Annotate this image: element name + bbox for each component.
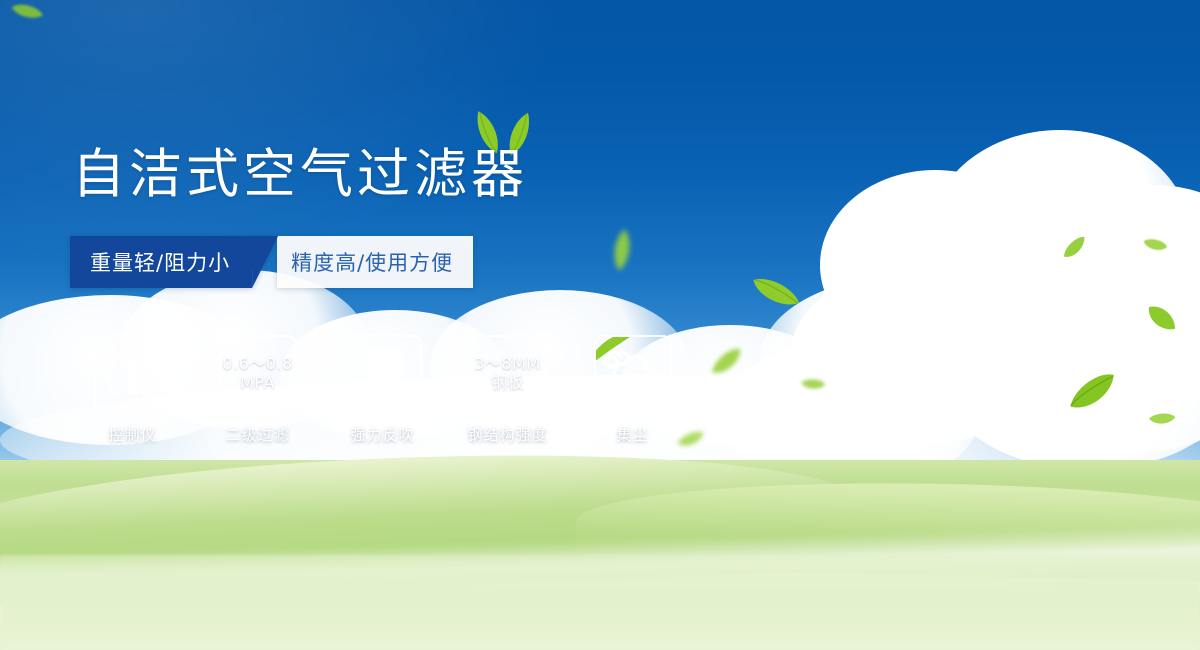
steel-plate-text-icon: 3～8MM 钢板: [469, 335, 547, 413]
feature-item-steel[interactable]: 3～8MM 钢板 钢结构强度: [445, 335, 570, 445]
air-caption: Air: [596, 390, 670, 404]
air-cloud-icon: Air: [594, 335, 672, 413]
feature-label: 二级过滤: [225, 424, 289, 445]
subtitle-left: 重量轻/阻力小: [70, 236, 252, 288]
pressure-line2: MPA: [222, 374, 292, 393]
decor-leaf-icon: [594, 335, 636, 363]
page-title: 自洁式空气过滤器: [72, 148, 528, 201]
svg-text:NO: NO: [100, 371, 112, 380]
banner-content: 自洁式空气过滤器 重量轻/阻力小 精度高/使用方便: [0, 0, 1200, 650]
feature-label: 钢结构强度: [467, 424, 547, 445]
pressure-text-icon: 0.6～0.8 MPA: [219, 335, 297, 413]
feature-label: 控制仪: [108, 424, 156, 445]
pressure-line1: 0.6～0.8: [222, 355, 292, 374]
feature-label: 集尘: [616, 424, 648, 445]
feature-item-control[interactable]: NO OFF 控制仪: [70, 335, 195, 445]
feature-item-dust[interactable]: Air 集尘: [570, 335, 695, 445]
feature-item-blowback[interactable]: 强力反吹: [320, 335, 445, 445]
filter-coil-icon: [344, 335, 422, 413]
feature-label: 强力反吹: [350, 424, 414, 445]
subtitle-wedge: [252, 236, 278, 288]
subtitle-bar: 重量轻/阻力小 精度高/使用方便: [70, 236, 473, 288]
product-banner: 自洁式空气过滤器 重量轻/阻力小 精度高/使用方便: [0, 0, 1200, 650]
steel-line2: 钢板: [474, 374, 540, 393]
control-dial-icon: NO OFF: [94, 335, 172, 413]
feature-list: NO OFF 控制仪 0.6～0.8 MPA 二级过滤: [70, 335, 695, 445]
feature-item-pressure[interactable]: 0.6～0.8 MPA 二级过滤: [195, 335, 320, 445]
steel-line1: 3～8MM: [474, 355, 540, 374]
svg-text:OFF: OFF: [147, 391, 162, 400]
subtitle-right: 精度高/使用方便: [277, 236, 473, 288]
